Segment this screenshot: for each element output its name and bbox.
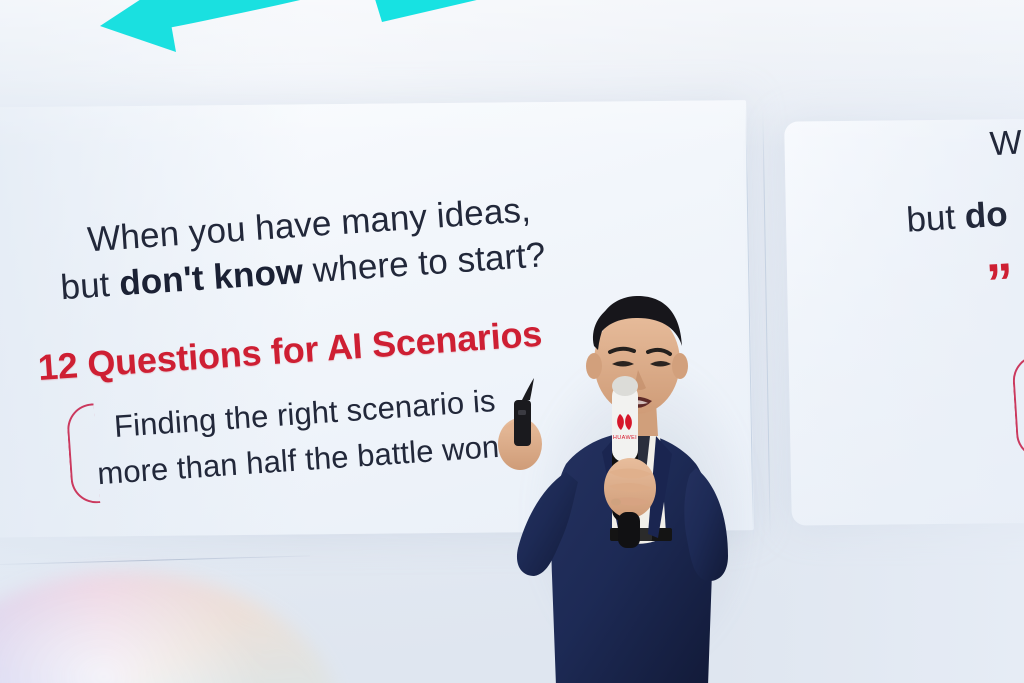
slide-right-bold: do: [964, 194, 1009, 236]
slide-headline: 12 Questions for AI Scenarios: [37, 313, 544, 389]
keynote-speaker: HUAWEI: [470, 276, 790, 683]
slide-text-block-right: W but do ”: [788, 101, 1024, 523]
microphone-brand-label: HUAWEI: [613, 435, 637, 441]
left-pointing-arrow: [100, 0, 176, 52]
slide-right-top-fragment: W: [989, 123, 1023, 164]
slide-line-2-bold: don't know: [118, 252, 305, 303]
open-bracket-icon: [1011, 355, 1024, 461]
speaker-hand-left-with-clicker: [498, 378, 542, 470]
left-pointing-arrow: [158, 0, 400, 30]
cyan-platform: [360, 0, 580, 22]
quote-mark-icon: ”: [986, 266, 1017, 300]
screenshot-stage: When you have many ideas, but don't know…: [0, 0, 1024, 683]
presentation-clicker: [514, 378, 534, 446]
open-bracket-icon: [66, 403, 101, 505]
slide-line-2-prefix: but: [59, 264, 120, 307]
slide-right-line: but do: [905, 194, 1008, 240]
slide-right-prefix: but: [905, 197, 966, 240]
